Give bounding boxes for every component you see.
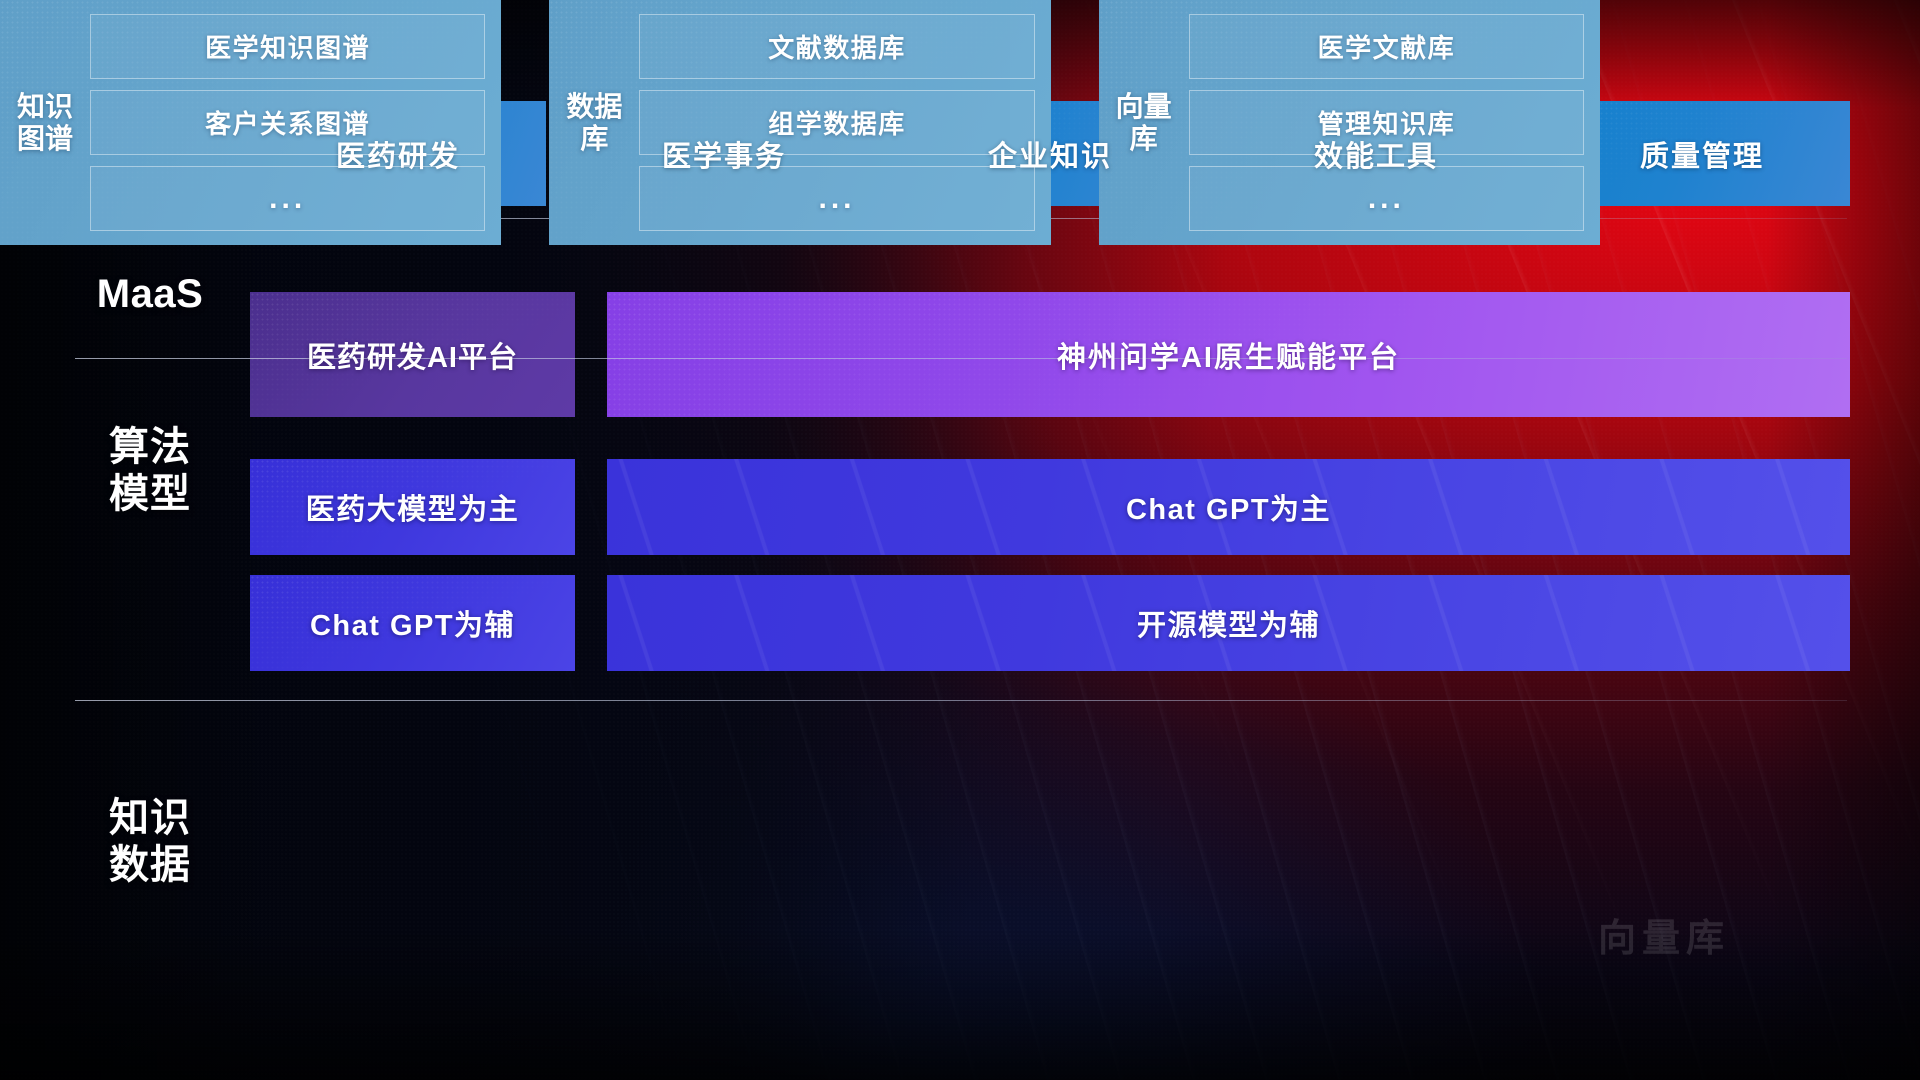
knowledge-card-database-items: 文献数据库 组学数据库 ... [639, 14, 1034, 231]
knowledge-item-more-vector[interactable]: ... [1189, 166, 1584, 231]
knowledge-card-knowledge-graph[interactable]: 知识图谱 医学知识图谱 客户关系图谱 ... [0, 0, 501, 245]
knowledge-item-customer-relation-graph[interactable]: 客户关系图谱 [90, 90, 485, 155]
row-label-knowledge-line1: 知识 [75, 795, 225, 842]
knowledge-card-database[interactable]: 数据库 文献数据库 组学数据库 ... [549, 0, 1050, 245]
knowledge-card-vector-store-title: 向量库 [1113, 14, 1175, 231]
maas-row: 医药研发AI平台 神州问学AI原生赋能平台 [250, 292, 1850, 417]
knowledge-item-more-database[interactable]: ... [639, 166, 1034, 231]
knowledge-item-management-knowledge-store[interactable]: 管理知识库 [1189, 90, 1584, 155]
row-label-knowledge-line2: 数据 [75, 842, 225, 889]
row-label-knowledge: 知识 数据 [75, 795, 225, 889]
knowledge-card-vector-store[interactable]: 向量库 医学文献库 管理知识库 ... [1099, 0, 1600, 245]
knowledge-item-literature-database[interactable]: 文献数据库 [639, 14, 1034, 79]
algo-card-open-source-secondary[interactable]: 开源模型为辅 [607, 575, 1850, 671]
architecture-diagram: 应用 场景 医药研发 医学事务 企业知识 效能工具 质量管理 MaaS [0, 0, 1920, 1080]
app-card-quality-management-label: 质量管理 [1640, 133, 1764, 175]
algo-card-pharma-large-model-primary-label: 医药大模型为主 [306, 486, 520, 528]
row-label-maas-text: MaaS [75, 271, 225, 318]
knowledge-data-row: 知识图谱 医学知识图谱 客户关系图谱 ... 数据库 文献数据库 组学数据库 .… [0, 0, 1600, 245]
row-label-maas: MaaS [75, 271, 225, 318]
knowledge-card-vector-store-items: 医学文献库 管理知识库 ... [1189, 14, 1584, 231]
algo-card-pharma-large-model-primary[interactable]: 医药大模型为主 [250, 459, 575, 555]
algo-card-chatgpt-primary-label: Chat GPT为主 [1126, 486, 1331, 528]
knowledge-item-medical-literature-store[interactable]: 医学文献库 [1189, 14, 1584, 79]
maas-card-pharma-ai-platform-label: 医药研发AI平台 [307, 334, 518, 376]
algorithm-row-primary: 医药大模型为主 Chat GPT为主 [250, 459, 1850, 555]
row-label-algorithm-line1: 算法 [75, 424, 225, 471]
algo-card-chatgpt-secondary[interactable]: Chat GPT为辅 [250, 575, 575, 671]
slide-canvas: 应用 场景 医药研发 医学事务 企业知识 效能工具 质量管理 MaaS [0, 0, 1920, 1080]
watermark-text: 向量库 [1598, 907, 1730, 962]
knowledge-item-more-graph[interactable]: ... [90, 166, 485, 231]
row-label-algorithm-line2: 模型 [75, 471, 225, 518]
divider-algorithm-knowledge [75, 700, 1847, 701]
algorithm-row-secondary: Chat GPT为辅 开源模型为辅 [250, 575, 1850, 671]
algo-card-chatgpt-primary[interactable]: Chat GPT为主 [607, 459, 1850, 555]
knowledge-card-knowledge-graph-title: 知识图谱 [14, 14, 76, 231]
algo-card-open-source-secondary-label: 开源模型为辅 [1137, 602, 1320, 644]
row-label-algorithm: 算法 模型 [75, 424, 225, 518]
maas-card-pharma-ai-platform[interactable]: 医药研发AI平台 [250, 292, 575, 417]
knowledge-item-medical-knowledge-graph[interactable]: 医学知识图谱 [90, 14, 485, 79]
algo-card-chatgpt-secondary-label: Chat GPT为辅 [310, 602, 515, 644]
knowledge-card-knowledge-graph-items: 医学知识图谱 客户关系图谱 ... [90, 14, 485, 231]
maas-card-shenzhou-wenxue-platform-label: 神州问学AI原生赋能平台 [1057, 334, 1400, 376]
knowledge-card-database-title: 数据库 [563, 14, 625, 231]
knowledge-item-omics-database[interactable]: 组学数据库 [639, 90, 1034, 155]
maas-card-shenzhou-wenxue-platform[interactable]: 神州问学AI原生赋能平台 [607, 292, 1850, 417]
